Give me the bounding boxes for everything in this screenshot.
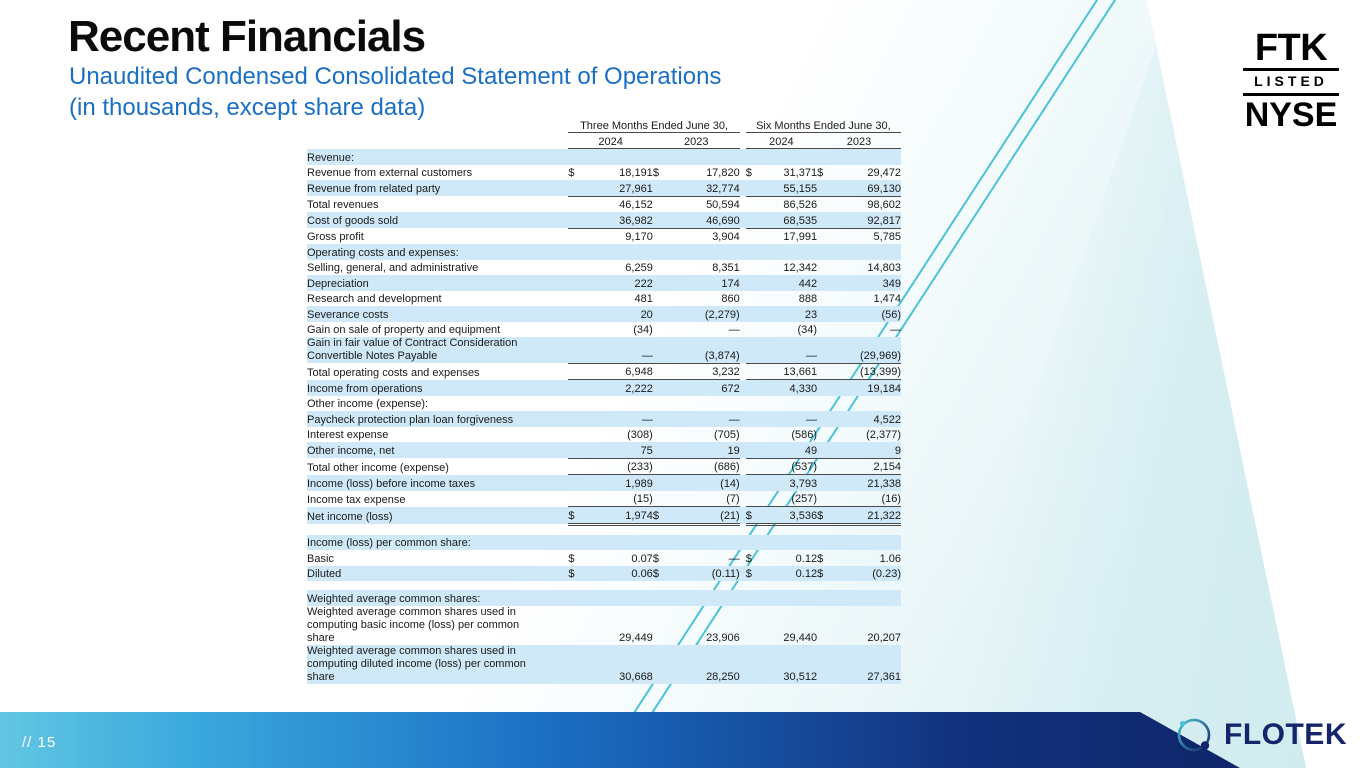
currency-symbol bbox=[568, 291, 582, 307]
row-value: 27,961 bbox=[582, 180, 652, 196]
currency-symbol bbox=[746, 275, 760, 291]
currency-symbol: $ bbox=[746, 550, 760, 566]
header-year-3m-2024: 2024 bbox=[568, 133, 652, 149]
currency-symbol: $ bbox=[568, 507, 582, 525]
row-label: Other income (expense): bbox=[307, 396, 568, 412]
table-row: Weighted average common shares used in c… bbox=[307, 606, 901, 645]
row-value: 29,472 bbox=[831, 165, 901, 181]
ftk-exchange-text: NYSE bbox=[1243, 98, 1339, 132]
table-row: Basic$0.07$—$0.12$1.06 bbox=[307, 550, 901, 566]
row-value: — bbox=[760, 411, 817, 427]
table-spacer-row bbox=[307, 581, 901, 590]
currency-symbol: $ bbox=[653, 507, 667, 525]
row-label: Gain in fair value of Contract Considera… bbox=[307, 337, 568, 363]
currency-symbol bbox=[817, 196, 831, 212]
table-row: Total other income (expense)(233)(686)(5… bbox=[307, 458, 901, 475]
row-value bbox=[831, 535, 901, 551]
currency-symbol bbox=[653, 275, 667, 291]
row-label: Diluted bbox=[307, 566, 568, 582]
row-value: 30,512 bbox=[760, 645, 817, 684]
currency-symbol bbox=[746, 212, 760, 228]
row-value: (2,377) bbox=[831, 427, 901, 443]
row-value bbox=[582, 590, 652, 606]
currency-symbol bbox=[568, 196, 582, 212]
row-value: 17,820 bbox=[667, 165, 740, 181]
row-value: 23,906 bbox=[667, 606, 740, 645]
row-value: 69,130 bbox=[831, 180, 901, 196]
currency-symbol bbox=[568, 427, 582, 443]
currency-symbol bbox=[568, 149, 582, 165]
row-value: 19,184 bbox=[831, 380, 901, 396]
row-value: 3,536 bbox=[760, 507, 817, 525]
currency-symbol bbox=[568, 396, 582, 412]
currency-symbol bbox=[817, 380, 831, 396]
row-value bbox=[582, 535, 652, 551]
row-value: — bbox=[667, 322, 740, 338]
currency-symbol bbox=[746, 306, 760, 322]
currency-symbol bbox=[568, 606, 582, 645]
row-value bbox=[667, 535, 740, 551]
row-value bbox=[667, 590, 740, 606]
currency-symbol bbox=[746, 411, 760, 427]
row-value: 50,594 bbox=[667, 196, 740, 212]
row-value: 55,155 bbox=[760, 180, 817, 196]
row-label: Operating costs and expenses: bbox=[307, 244, 568, 260]
currency-symbol bbox=[746, 380, 760, 396]
currency-symbol bbox=[653, 535, 667, 551]
currency-symbol bbox=[653, 196, 667, 212]
header-spacer bbox=[307, 120, 568, 133]
row-value: 5,785 bbox=[831, 228, 901, 244]
row-value: (537) bbox=[760, 458, 817, 475]
currency-symbol bbox=[653, 442, 667, 458]
row-value: 4,522 bbox=[831, 411, 901, 427]
currency-symbol bbox=[817, 411, 831, 427]
currency-symbol bbox=[568, 411, 582, 427]
row-value: (308) bbox=[582, 427, 652, 443]
currency-symbol bbox=[653, 180, 667, 196]
table-row: Gain in fair value of Contract Considera… bbox=[307, 337, 901, 363]
currency-symbol bbox=[817, 212, 831, 228]
row-value: 0.07 bbox=[582, 550, 652, 566]
currency-symbol bbox=[817, 396, 831, 412]
row-label: Interest expense bbox=[307, 427, 568, 443]
currency-symbol bbox=[653, 475, 667, 491]
currency-symbol bbox=[817, 458, 831, 475]
currency-symbol bbox=[817, 606, 831, 645]
row-value: 2,154 bbox=[831, 458, 901, 475]
row-value: 92,817 bbox=[831, 212, 901, 228]
table-row: Income (loss) before income taxes1,989(1… bbox=[307, 475, 901, 491]
currency-symbol bbox=[568, 590, 582, 606]
currency-symbol bbox=[817, 491, 831, 507]
row-label: Gross profit bbox=[307, 228, 568, 244]
row-value bbox=[760, 244, 817, 260]
row-label: Revenue: bbox=[307, 149, 568, 165]
row-value: (257) bbox=[760, 491, 817, 507]
row-value: (2,279) bbox=[667, 306, 740, 322]
row-value bbox=[831, 149, 901, 165]
row-value: 0.06 bbox=[582, 566, 652, 582]
table-header: Three Months Ended June 30, Six Months E… bbox=[307, 120, 901, 149]
table-row: Income tax expense(15)(7)(257)(16) bbox=[307, 491, 901, 507]
table-row: Severance costs20(2,279)23(56) bbox=[307, 306, 901, 322]
currency-symbol bbox=[653, 291, 667, 307]
flotek-logo: FLOTEK bbox=[1173, 714, 1347, 756]
currency-symbol bbox=[568, 363, 582, 380]
currency-symbol bbox=[817, 228, 831, 244]
currency-symbol bbox=[653, 244, 667, 260]
row-value: 349 bbox=[831, 275, 901, 291]
row-value: 29,449 bbox=[582, 606, 652, 645]
currency-symbol bbox=[568, 322, 582, 338]
currency-symbol bbox=[817, 260, 831, 276]
row-value: 17,991 bbox=[760, 228, 817, 244]
table-row: Selling, general, and administrative6,25… bbox=[307, 260, 901, 276]
currency-symbol bbox=[653, 645, 667, 684]
row-label: Cost of goods sold bbox=[307, 212, 568, 228]
currency-symbol: $ bbox=[653, 550, 667, 566]
currency-symbol bbox=[746, 427, 760, 443]
table-row: Other income, net7519499 bbox=[307, 442, 901, 458]
row-value: (3,874) bbox=[667, 337, 740, 363]
row-value: 12,342 bbox=[760, 260, 817, 276]
row-value: (586) bbox=[760, 427, 817, 443]
row-value bbox=[831, 244, 901, 260]
currency-symbol bbox=[746, 645, 760, 684]
row-value: (15) bbox=[582, 491, 652, 507]
currency-symbol bbox=[653, 337, 667, 363]
currency-symbol bbox=[653, 260, 667, 276]
currency-symbol bbox=[568, 475, 582, 491]
currency-symbol bbox=[568, 180, 582, 196]
currency-symbol bbox=[568, 212, 582, 228]
currency-symbol: $ bbox=[568, 566, 582, 582]
table-year-header-row: 2024 2023 2024 2023 bbox=[307, 133, 901, 149]
row-value: 3,232 bbox=[667, 363, 740, 380]
row-value: — bbox=[582, 411, 652, 427]
currency-symbol bbox=[746, 458, 760, 475]
row-value: 9,170 bbox=[582, 228, 652, 244]
row-value: (34) bbox=[760, 322, 817, 338]
row-value: 2,222 bbox=[582, 380, 652, 396]
row-value: 46,690 bbox=[667, 212, 740, 228]
row-value: — bbox=[760, 337, 817, 363]
table-row: Total operating costs and expenses6,9483… bbox=[307, 363, 901, 380]
currency-symbol bbox=[746, 442, 760, 458]
row-value: (233) bbox=[582, 458, 652, 475]
row-value: — bbox=[667, 411, 740, 427]
table-row: Gain on sale of property and equipment(3… bbox=[307, 322, 901, 338]
row-value bbox=[760, 535, 817, 551]
currency-symbol bbox=[817, 149, 831, 165]
row-value: (7) bbox=[667, 491, 740, 507]
row-value: (686) bbox=[667, 458, 740, 475]
page-subtitle: Unaudited Condensed Consolidated Stateme… bbox=[69, 62, 721, 123]
row-value: (21) bbox=[667, 507, 740, 525]
row-value bbox=[582, 149, 652, 165]
row-label: Revenue from related party bbox=[307, 180, 568, 196]
row-value: 0.12 bbox=[760, 566, 817, 582]
row-value: 222 bbox=[582, 275, 652, 291]
table-row: Operating costs and expenses: bbox=[307, 244, 901, 260]
row-value: — bbox=[582, 337, 652, 363]
currency-symbol bbox=[817, 306, 831, 322]
currency-symbol bbox=[746, 291, 760, 307]
row-value: 27,361 bbox=[831, 645, 901, 684]
row-label: Depreciation bbox=[307, 275, 568, 291]
row-value: 9 bbox=[831, 442, 901, 458]
currency-symbol bbox=[568, 306, 582, 322]
row-value: 174 bbox=[667, 275, 740, 291]
row-value: 3,904 bbox=[667, 228, 740, 244]
currency-symbol bbox=[653, 411, 667, 427]
row-label: Selling, general, and administrative bbox=[307, 260, 568, 276]
row-value: (16) bbox=[831, 491, 901, 507]
row-value: 98,602 bbox=[831, 196, 901, 212]
row-value: 21,338 bbox=[831, 475, 901, 491]
row-value bbox=[831, 396, 901, 412]
table-row: Research and development4818608881,474 bbox=[307, 291, 901, 307]
row-value: 49 bbox=[760, 442, 817, 458]
table-row: Income (loss) per common share: bbox=[307, 535, 901, 551]
currency-symbol bbox=[746, 322, 760, 338]
currency-symbol bbox=[653, 306, 667, 322]
row-value: 1,989 bbox=[582, 475, 652, 491]
row-value: 3,793 bbox=[760, 475, 817, 491]
currency-symbol: $ bbox=[817, 566, 831, 582]
row-value: 442 bbox=[760, 275, 817, 291]
currency-symbol bbox=[817, 427, 831, 443]
row-label: Basic bbox=[307, 550, 568, 566]
currency-symbol bbox=[817, 337, 831, 363]
row-label: Total operating costs and expenses bbox=[307, 363, 568, 380]
currency-symbol bbox=[817, 442, 831, 458]
currency-symbol: $ bbox=[817, 507, 831, 525]
table-row: Revenue from related party27,96132,77455… bbox=[307, 180, 901, 196]
row-value: 36,982 bbox=[582, 212, 652, 228]
currency-symbol bbox=[653, 606, 667, 645]
currency-symbol bbox=[568, 244, 582, 260]
currency-symbol bbox=[746, 244, 760, 260]
row-value bbox=[760, 396, 817, 412]
table-row: Net income (loss)$1,974$(21)$3,536$21,32… bbox=[307, 507, 901, 525]
currency-symbol bbox=[568, 275, 582, 291]
row-value bbox=[582, 244, 652, 260]
currency-symbol bbox=[746, 260, 760, 276]
page-title: Recent Financials bbox=[68, 14, 425, 60]
currency-symbol bbox=[817, 645, 831, 684]
flotek-circle-icon bbox=[1173, 714, 1215, 756]
currency-symbol bbox=[568, 260, 582, 276]
currency-symbol bbox=[746, 606, 760, 645]
table-group-header-row: Three Months Ended June 30, Six Months E… bbox=[307, 120, 901, 133]
currency-symbol bbox=[653, 322, 667, 338]
flotek-wordmark: FLOTEK bbox=[1224, 718, 1347, 752]
currency-symbol bbox=[568, 458, 582, 475]
currency-symbol bbox=[653, 396, 667, 412]
row-value: 4,330 bbox=[760, 380, 817, 396]
row-value: 21,322 bbox=[831, 507, 901, 525]
currency-symbol bbox=[746, 590, 760, 606]
row-value: 13,661 bbox=[760, 363, 817, 380]
currency-symbol bbox=[653, 380, 667, 396]
currency-symbol bbox=[746, 475, 760, 491]
row-value: 1.06 bbox=[831, 550, 901, 566]
row-value: 32,774 bbox=[667, 180, 740, 196]
header-year-6m-2024: 2024 bbox=[746, 133, 817, 149]
row-value bbox=[667, 396, 740, 412]
currency-symbol: $ bbox=[746, 165, 760, 181]
currency-symbol: $ bbox=[653, 566, 667, 582]
row-value: (705) bbox=[667, 427, 740, 443]
currency-symbol: $ bbox=[817, 550, 831, 566]
currency-symbol bbox=[653, 212, 667, 228]
table-row: Revenue: bbox=[307, 149, 901, 165]
row-value: (29,969) bbox=[831, 337, 901, 363]
currency-symbol bbox=[817, 590, 831, 606]
row-value: (14) bbox=[667, 475, 740, 491]
row-value: 75 bbox=[582, 442, 652, 458]
currency-symbol: $ bbox=[568, 550, 582, 566]
row-label: Other income, net bbox=[307, 442, 568, 458]
currency-symbol bbox=[817, 535, 831, 551]
currency-symbol bbox=[746, 396, 760, 412]
table-body: Revenue:Revenue from external customers$… bbox=[307, 149, 901, 684]
currency-symbol bbox=[746, 228, 760, 244]
row-value: (34) bbox=[582, 322, 652, 338]
table-row: Income from operations2,2226724,33019,18… bbox=[307, 380, 901, 396]
currency-symbol bbox=[568, 228, 582, 244]
currency-symbol bbox=[653, 228, 667, 244]
table-row: Other income (expense): bbox=[307, 396, 901, 412]
currency-symbol bbox=[568, 645, 582, 684]
currency-symbol bbox=[746, 535, 760, 551]
row-value: 672 bbox=[667, 380, 740, 396]
row-value: 6,948 bbox=[582, 363, 652, 380]
currency-symbol bbox=[653, 491, 667, 507]
currency-symbol bbox=[817, 180, 831, 196]
financial-statement-table: Three Months Ended June 30, Six Months E… bbox=[307, 120, 901, 684]
currency-symbol bbox=[653, 590, 667, 606]
currency-symbol bbox=[568, 337, 582, 363]
row-value: 28,250 bbox=[667, 645, 740, 684]
row-label: Severance costs bbox=[307, 306, 568, 322]
header-year-6m-2023: 2023 bbox=[817, 133, 901, 149]
currency-symbol bbox=[746, 337, 760, 363]
currency-symbol: $ bbox=[817, 165, 831, 181]
currency-symbol bbox=[568, 491, 582, 507]
table-row: Depreciation222174442349 bbox=[307, 275, 901, 291]
row-value: 86,526 bbox=[760, 196, 817, 212]
currency-symbol bbox=[817, 275, 831, 291]
row-label: Total revenues bbox=[307, 196, 568, 212]
currency-symbol: $ bbox=[746, 566, 760, 582]
currency-symbol bbox=[817, 475, 831, 491]
table-row: Cost of goods sold36,98246,69068,53592,8… bbox=[307, 212, 901, 228]
row-value bbox=[667, 149, 740, 165]
row-value: 14,803 bbox=[831, 260, 901, 276]
row-value bbox=[760, 590, 817, 606]
row-value: 18,191 bbox=[582, 165, 652, 181]
row-label: Weighted average common shares: bbox=[307, 590, 568, 606]
currency-symbol bbox=[746, 491, 760, 507]
currency-symbol bbox=[653, 458, 667, 475]
row-value: 20,207 bbox=[831, 606, 901, 645]
row-value: 860 bbox=[667, 291, 740, 307]
header-three-months: Three Months Ended June 30, bbox=[568, 120, 739, 133]
row-value: 23 bbox=[760, 306, 817, 322]
table-row: Revenue from external customers$18,191$1… bbox=[307, 165, 901, 181]
header-six-months: Six Months Ended June 30, bbox=[746, 120, 901, 133]
row-value: 6,259 bbox=[582, 260, 652, 276]
row-label: Total other income (expense) bbox=[307, 458, 568, 475]
row-label: Income tax expense bbox=[307, 491, 568, 507]
row-value: 1,974 bbox=[582, 507, 652, 525]
currency-symbol bbox=[746, 196, 760, 212]
row-value: (13,399) bbox=[831, 363, 901, 380]
row-label: Research and development bbox=[307, 291, 568, 307]
row-value: (56) bbox=[831, 306, 901, 322]
row-value: 46,152 bbox=[582, 196, 652, 212]
header-spacer-2 bbox=[307, 133, 568, 149]
row-value: 19 bbox=[667, 442, 740, 458]
ftk-ticker-text: FTK bbox=[1243, 30, 1339, 66]
row-label: Income (loss) before income taxes bbox=[307, 475, 568, 491]
row-label: Weighted average common shares used in c… bbox=[307, 645, 568, 684]
row-label: Weighted average common shares used in c… bbox=[307, 606, 568, 645]
row-label: Gain on sale of property and equipment bbox=[307, 322, 568, 338]
currency-symbol bbox=[568, 535, 582, 551]
table-row: Diluted$0.06$(0.11)$0.12$(0.23) bbox=[307, 566, 901, 582]
ftk-nyse-listing-badge: FTK LISTED NYSE bbox=[1243, 30, 1339, 132]
currency-symbol bbox=[568, 380, 582, 396]
page-number: // 15 bbox=[22, 734, 56, 751]
row-value bbox=[831, 590, 901, 606]
table-row: Paycheck protection plan loan forgivenes… bbox=[307, 411, 901, 427]
table-row: Weighted average common shares: bbox=[307, 590, 901, 606]
row-value: — bbox=[667, 550, 740, 566]
currency-symbol: $ bbox=[568, 165, 582, 181]
row-value: 31,371 bbox=[760, 165, 817, 181]
table-row: Interest expense(308)(705)(586)(2,377) bbox=[307, 427, 901, 443]
row-value bbox=[582, 396, 652, 412]
currency-symbol: $ bbox=[653, 165, 667, 181]
row-value: 30,668 bbox=[582, 645, 652, 684]
row-value: — bbox=[831, 322, 901, 338]
table-row: Weighted average common shares used in c… bbox=[307, 645, 901, 684]
currency-symbol bbox=[746, 149, 760, 165]
row-value: 888 bbox=[760, 291, 817, 307]
currency-symbol bbox=[568, 442, 582, 458]
currency-symbol bbox=[817, 291, 831, 307]
row-value: 8,351 bbox=[667, 260, 740, 276]
row-label: Revenue from external customers bbox=[307, 165, 568, 181]
row-value: 20 bbox=[582, 306, 652, 322]
row-value: 1,474 bbox=[831, 291, 901, 307]
currency-symbol bbox=[817, 244, 831, 260]
row-label: Income (loss) per common share: bbox=[307, 535, 568, 551]
row-value bbox=[667, 244, 740, 260]
currency-symbol bbox=[817, 363, 831, 380]
table-row: Gross profit9,1703,90417,9915,785 bbox=[307, 228, 901, 244]
currency-symbol bbox=[746, 180, 760, 196]
header-year-3m-2023: 2023 bbox=[653, 133, 740, 149]
currency-symbol: $ bbox=[746, 507, 760, 525]
row-value: 29,440 bbox=[760, 606, 817, 645]
currency-symbol bbox=[746, 363, 760, 380]
currency-symbol bbox=[653, 149, 667, 165]
